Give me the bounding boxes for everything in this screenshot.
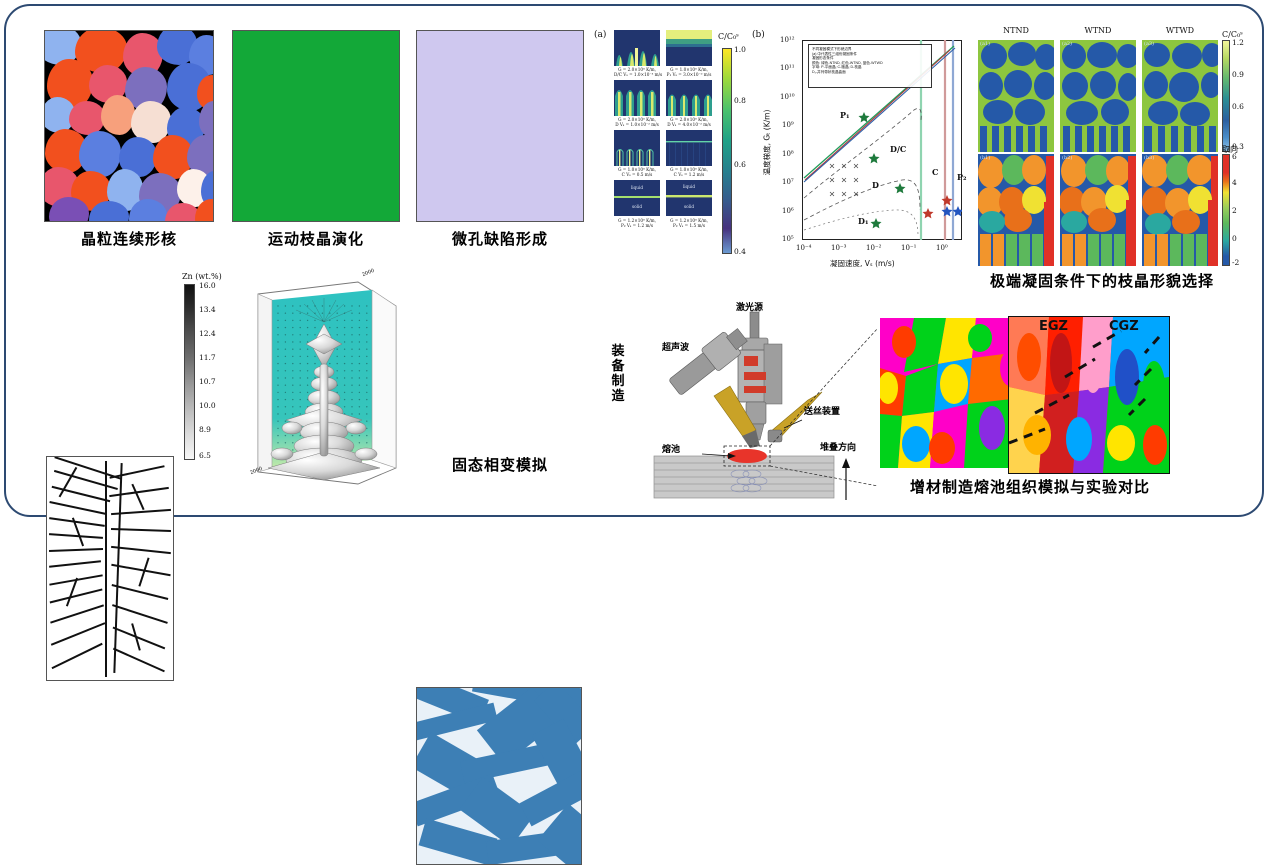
sim-tile-a-3-2: [666, 130, 712, 166]
equipment-manufacturing-label: 装备制造: [610, 344, 626, 404]
solid-state-transformation-image: [416, 687, 582, 865]
region-label-C: C: [932, 167, 938, 177]
panel-c-top-tick-2: 0.6: [1232, 102, 1244, 111]
x-tick-1: 10⁻³: [831, 244, 846, 252]
grain-map-header-2: WTWD: [1142, 26, 1218, 35]
zn-tick-1: 13.4: [199, 305, 216, 314]
zn-tick-5: 10.0: [199, 401, 216, 410]
panel-b-tag: (b): [752, 30, 765, 40]
micropore-defect-image: [416, 30, 584, 222]
sim-caption-a-1-1-l2: D/C Vₛ = 1.0×10⁻³ m/s: [614, 72, 660, 77]
x-tick-0: 10⁻⁴: [796, 244, 811, 252]
chart-ylabel: 温度梯度, Gₜ (K/m): [761, 110, 772, 176]
zn-tick-3: 11.7: [199, 353, 216, 362]
legend-line-5: D₁-并列带状枝晶曲面: [812, 70, 928, 75]
panel-c-bot-tick-1: 4: [1232, 178, 1237, 187]
right-column: (a) G = 2.0×10⁶ K/m, D/C Vₛ = 1.0×10⁻³ m…: [592, 14, 1252, 509]
melt-pool-label: 熔池: [662, 442, 680, 455]
sim-tile-a-1-1: [614, 30, 660, 66]
region-label-P1: P₁: [840, 110, 850, 120]
ebsd-label-cgz: CGZ: [1109, 319, 1139, 334]
grain-map-header-0: NTND: [978, 26, 1054, 35]
region-label-P2: P₂: [957, 172, 967, 182]
grain-map-b1: (b1): [978, 154, 1054, 266]
y-tick-6: 10¹¹: [780, 64, 795, 72]
ebsd-simulation-image: [880, 318, 1020, 468]
panel-d-caption: 增材制造熔池组织模拟与实验对比: [880, 476, 1180, 497]
grain-map-tag-b2: (b2): [1062, 155, 1072, 161]
sim-caption-a-3-2-l2: C Vₛ = 1.2 m/s: [666, 172, 712, 177]
solidification-map-chart: 不同凝固模式下形貌边界 (a) 中代表性三组份凝固条件 凝固形态条件 颜色: 绿…: [774, 32, 970, 280]
solid-state-transformation-caption: 固态相变模拟: [414, 454, 586, 475]
sim-tile-a-3-1: [614, 130, 660, 166]
grain-map-b2: (b2): [1060, 154, 1136, 266]
x-tick-4: 10⁰: [936, 244, 948, 252]
sim-label-a-4-2-liquid: liquid: [666, 184, 712, 189]
panel-c-top-tick-1: 0.9: [1232, 70, 1244, 79]
y-tick-4: 10⁹: [782, 121, 794, 129]
grain-map-tag-a3: (a3): [1144, 41, 1154, 47]
dendrite-line-map: [46, 456, 174, 681]
x-tick-2: 10⁻²: [866, 244, 881, 252]
sim-caption-a-1-2-l2: P₁ Vₛ = 3.0×10⁻⁵ m/s: [666, 72, 712, 77]
sim-label-a-4-1-solid: solid: [614, 204, 660, 209]
sim-tile-a-4-2: liquid solid: [666, 180, 712, 216]
y-tick-1: 10⁶: [782, 207, 794, 215]
zn-colorbar: Zn (wt.%) 16.0 13.4 12.4 11.7 10.7 10.0 …: [182, 282, 234, 468]
grain-map-a2: (a2): [1060, 40, 1136, 152]
zn-tick-7: 6.5: [199, 451, 211, 460]
grain-map-header-1: WTND: [1060, 26, 1136, 35]
panel-c-bot-tick-0: 6: [1232, 152, 1237, 161]
region-label-DC: D/C: [890, 144, 906, 154]
3d-dendrite-image: 2000 2000: [246, 272, 406, 494]
panel-c-bot-tick-3: 0: [1232, 234, 1237, 243]
panel-c-bot-tick-4: -2: [1232, 258, 1239, 267]
y-tick-5: 10¹⁰: [780, 93, 795, 101]
y-tick-0: 10⁵: [782, 235, 794, 243]
sim-label-a-4-1-liquid: liquid: [614, 185, 660, 190]
y-tick-3: 10⁸: [782, 150, 794, 158]
grain-nucleation-caption: 晶粒连续形核: [44, 228, 214, 249]
sim-caption-a-2-2-l2: D Vₛ = 4.0×10⁻² m/s: [666, 122, 712, 127]
grain-map-tag-a2: (a2): [1062, 41, 1072, 47]
panel-a-tick-1: 0.8: [734, 96, 746, 105]
grain-map-a3: (a3): [1142, 40, 1218, 152]
grain-map-a1: (a1): [978, 40, 1054, 152]
sim-tile-a-2-2: [666, 80, 712, 116]
ebsd-experimental-image: EGZ CGZ: [1008, 316, 1170, 474]
grain-map-tag-b1: (b1): [980, 155, 990, 161]
chart-xlabel: 凝固速度, Vₛ (m/s): [830, 258, 895, 269]
panel-a-tag: (a): [594, 30, 606, 40]
laser-source-label: 激光源: [736, 300, 763, 313]
panel-a-tick-3: 0.4: [734, 247, 746, 256]
zn-tick-6: 8.9: [199, 425, 211, 434]
region-label-D1: D₁: [858, 216, 868, 226]
region-label-D: D: [872, 180, 879, 190]
ebsd-label-egz: EGZ: [1039, 319, 1068, 334]
sim-caption-a-4-2-l2: P₂ Vₛ = 1.5 m/s: [666, 223, 712, 228]
panel-a-colorbar-title: C/C₀ˢ: [718, 32, 739, 41]
panel-a-tick-0: 1.0: [734, 45, 746, 54]
moving-dendrite-image: [232, 30, 400, 222]
am-schematic: 激光源 超声波 送丝装置 熔池 堆叠方向: [632, 304, 882, 504]
sim-tile-a-4-1: liquid solid: [614, 180, 660, 216]
zn-colorbar-title: Zn (wt.%): [182, 272, 222, 281]
grain-map-b3: (b3): [1142, 154, 1218, 266]
figure-root: 晶粒连续形核 运动枝晶演化 微孔缺陷形成: [0, 0, 1268, 521]
sim-caption-a-3-1-l2: C Vₛ = 0.5 m/s: [614, 172, 660, 177]
grain-nucleation-image: [44, 30, 214, 222]
panel-a-tick-2: 0.6: [734, 160, 746, 169]
grain-map-tag-a1: (a1): [980, 41, 990, 47]
y-tick-7: 10¹²: [780, 36, 795, 44]
sim-label-a-4-2-solid: solid: [666, 204, 712, 209]
panel-c-colorbar-bottom: 取向 6 4 2 0 -2: [1222, 154, 1252, 266]
panel-c-bot-tick-2: 2: [1232, 206, 1237, 215]
zn-tick-4: 10.7: [199, 377, 216, 386]
grain-map-tag-b3: (b3): [1144, 155, 1154, 161]
y-tick-2: 10⁷: [782, 178, 794, 186]
panel-c-top-tick-0: 1.2: [1232, 38, 1244, 47]
wire-feeder-label: 送丝装置: [804, 404, 840, 417]
micropore-defect-caption: 微孔缺陷形成: [414, 228, 586, 249]
sim-tile-a-1-2: [666, 30, 712, 66]
left-column: 晶粒连续形核 运动枝晶演化 微孔缺陷形成: [24, 14, 584, 509]
x-tick-3: 10⁻¹: [901, 244, 916, 252]
stack-direction-label: 堆叠方向: [820, 440, 856, 453]
chart-legend: 不同凝固模式下形貌边界 (a) 中代表性三组份凝固条件 凝固形态条件 颜色: 绿…: [808, 44, 932, 88]
moving-dendrite-caption: 运动枝晶演化: [230, 228, 402, 249]
sim-caption-a-2-1-l2: D Vₛ = 1.0×10⁻² m/s: [614, 122, 660, 127]
panel-c-grid: NTND WTND WTWD (a1): [970, 26, 1250, 276]
panel-a-colorbar: C/C₀ˢ 1.0 0.8 0.6 0.4: [720, 34, 760, 260]
panel-c-colorbar-top: C/C₀ˢ 1.2 0.9 0.6 0.3: [1222, 40, 1252, 152]
zn-tick-2: 12.4: [199, 329, 216, 338]
panel-a-grid: G = 2.0×10⁶ K/m, D/C Vₛ = 1.0×10⁻³ m/s G…: [614, 30, 712, 262]
sim-caption-a-4-1-l2: P₂ Vₛ = 1.2 m/s: [614, 223, 660, 228]
zn-tick-0: 16.0: [199, 281, 216, 290]
panel-c-caption: 极端凝固条件下的枝晶形貌选择: [952, 270, 1252, 291]
ultrasonic-label: 超声波: [662, 340, 689, 353]
sim-tile-a-2-1: [614, 80, 660, 116]
